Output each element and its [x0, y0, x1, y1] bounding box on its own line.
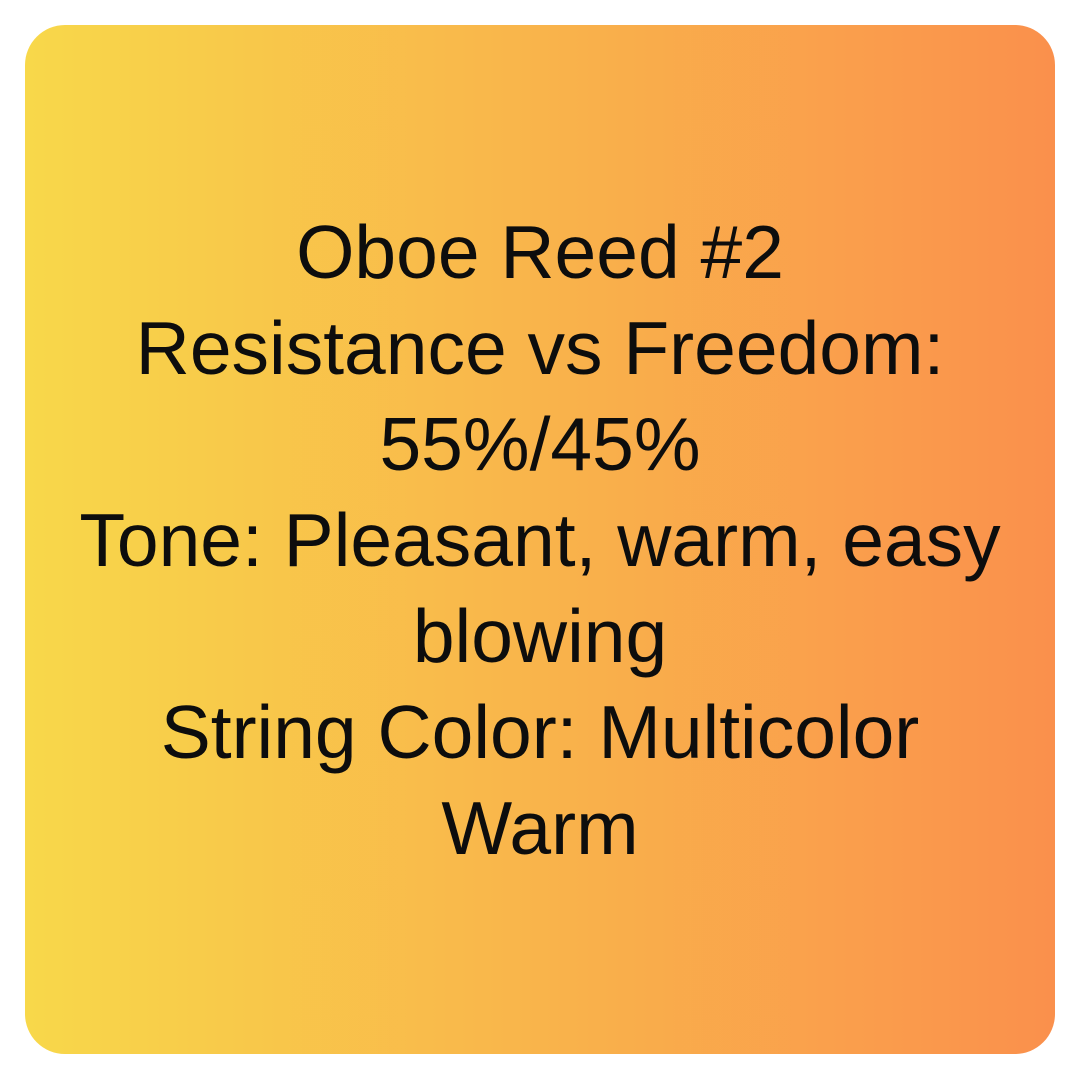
resistance-freedom-label-line: Resistance vs Freedom: — [25, 300, 1055, 396]
resistance-freedom-value-line: 55%/45% — [25, 396, 1055, 492]
reed-spec-text-block: Oboe Reed #2 Resistance vs Freedom: 55%/… — [25, 204, 1055, 876]
tone-line-2: blowing — [25, 588, 1055, 684]
reed-title-line: Oboe Reed #2 — [25, 204, 1055, 300]
string-color-line-1: String Color: Multicolor — [25, 684, 1055, 780]
tone-line-1: Tone: Pleasant, warm, easy — [25, 492, 1055, 588]
string-color-line-2: Warm — [25, 780, 1055, 876]
oboe-reed-spec-card: Oboe Reed #2 Resistance vs Freedom: 55%/… — [25, 25, 1055, 1054]
